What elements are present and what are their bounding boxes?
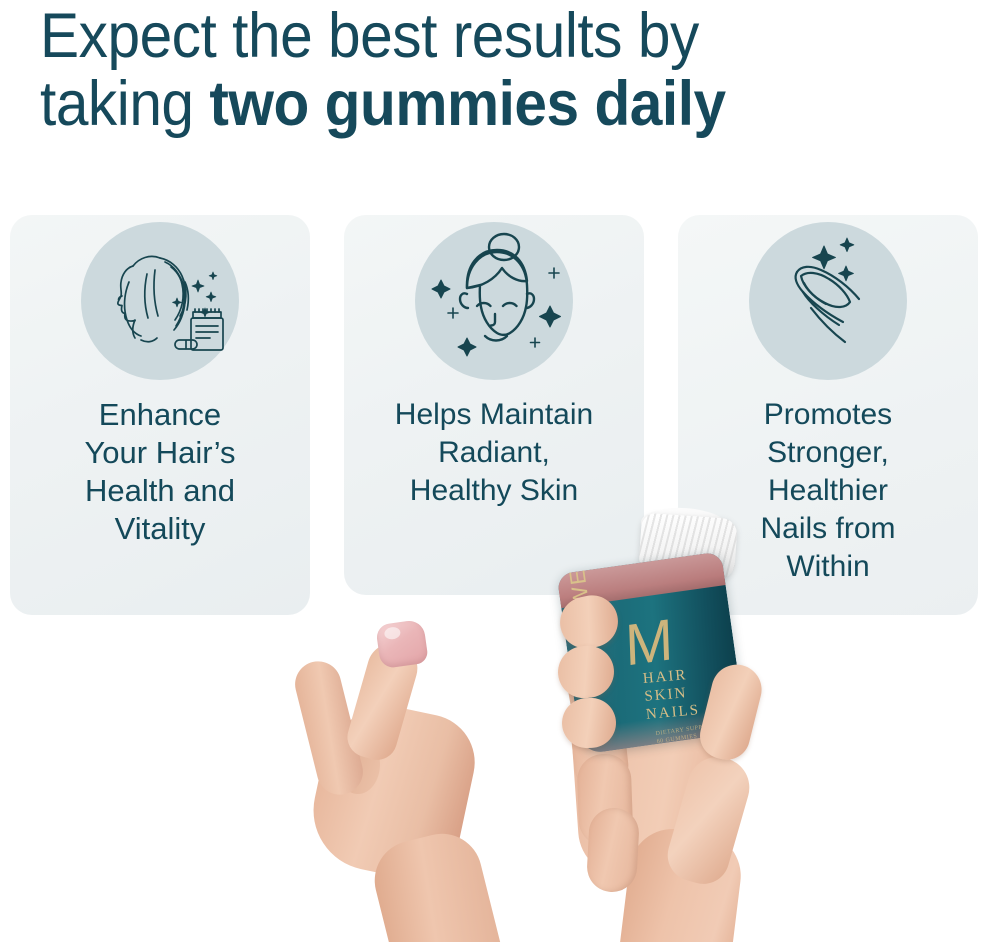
hand-holding-gummy bbox=[300, 630, 560, 942]
radiant-skin-face-icon bbox=[415, 222, 573, 380]
right-finger-pinky bbox=[586, 807, 640, 894]
bottle-body: WELM M HAIR SKIN NAILS DIETARY SUPPLEMEN… bbox=[557, 551, 747, 754]
supplement-bottle: WELM M HAIR SKIN NAILS DIETARY SUPPLEMEN… bbox=[546, 517, 754, 756]
bottle-label-lines: HAIR SKIN NAILS bbox=[642, 665, 701, 724]
page-title: Expect the best results by taking two gu… bbox=[40, 2, 896, 138]
gummy-piece bbox=[375, 619, 429, 669]
hair-vitality-icon bbox=[81, 222, 239, 380]
headline-line-2-emphasis: two gummies daily bbox=[209, 69, 725, 139]
bottle-logo-letter: M bbox=[624, 611, 672, 676]
strong-nail-icon bbox=[749, 222, 907, 380]
headline-line-1: Expect the best results by bbox=[40, 1, 699, 71]
headline-line-2-prefix: taking bbox=[40, 69, 209, 139]
product-photo: WELM M HAIR SKIN NAILS DIETARY SUPPLEMEN… bbox=[0, 480, 988, 942]
